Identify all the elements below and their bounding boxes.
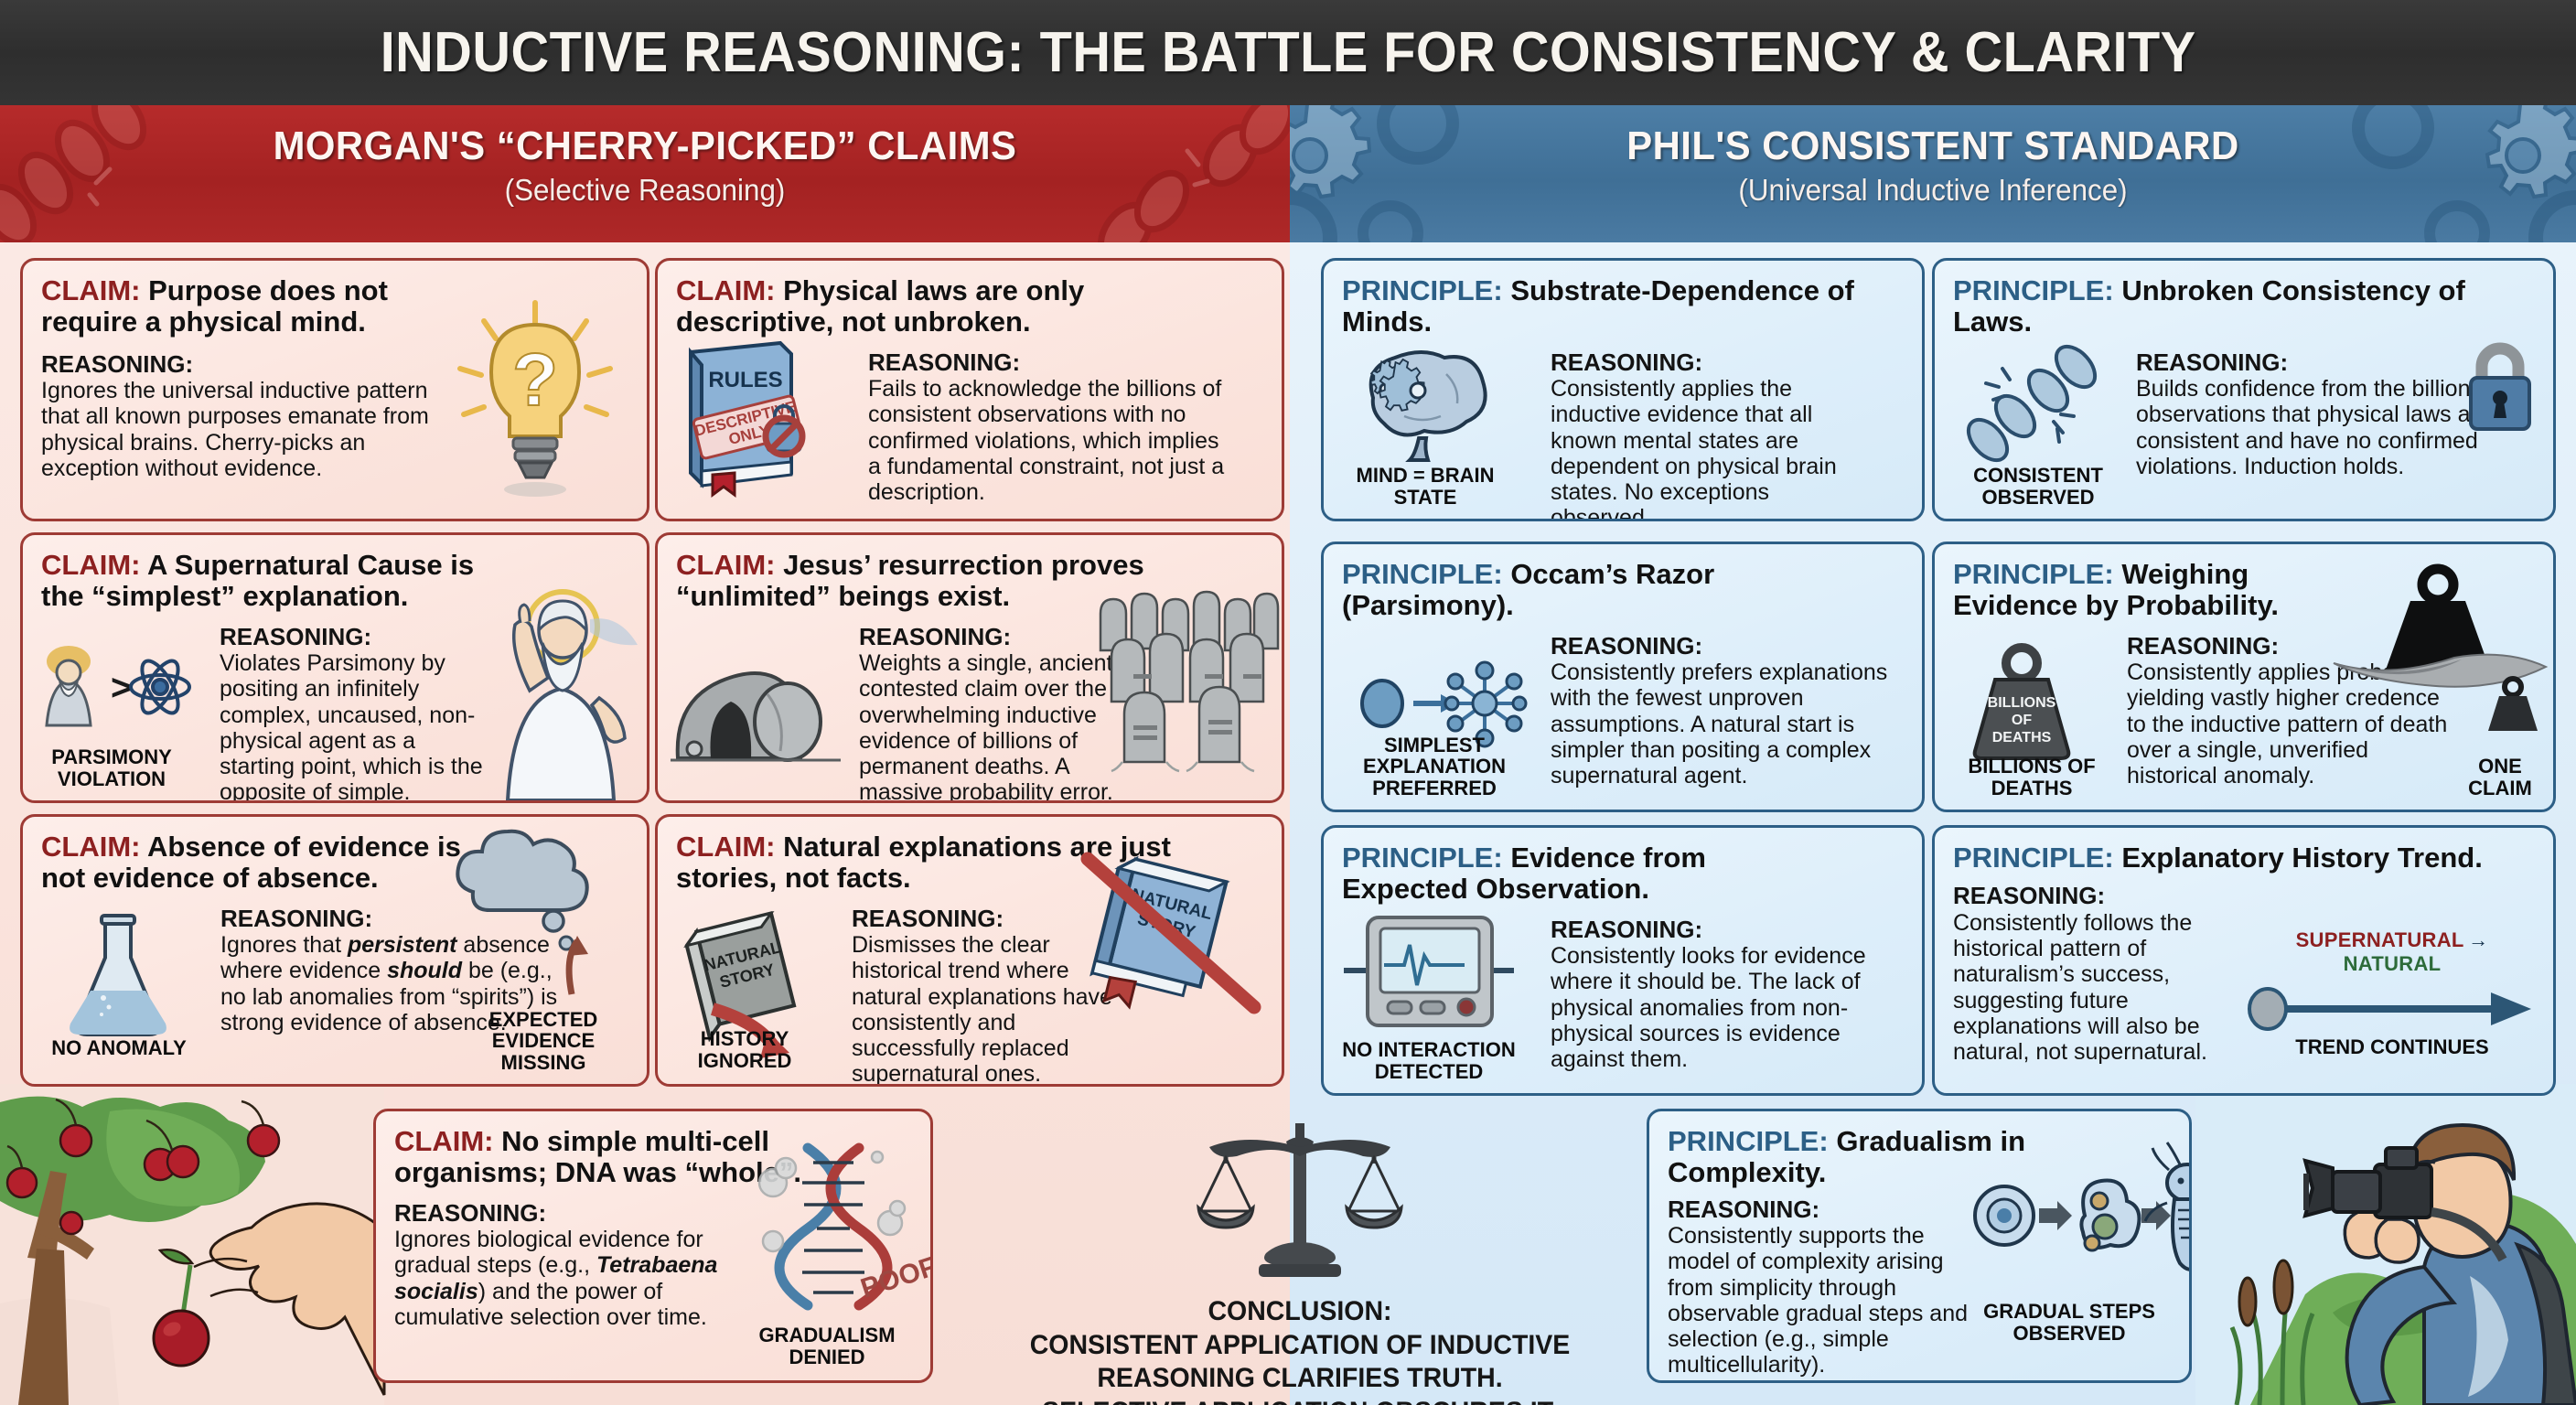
svg-text:DEATHS: DEATHS xyxy=(1992,730,2052,745)
claim-card: CLAIM: No simple multi-cell organisms; D… xyxy=(373,1109,933,1383)
reasoning-label: REASONING: xyxy=(1551,349,1871,376)
trend-to-label: NATURAL xyxy=(2344,952,2442,975)
principle-caption-secondary: ONE CLAIM xyxy=(2453,756,2548,799)
conclusion-line-3: REASONING CLARIFIES TRUTH. xyxy=(965,1362,1635,1396)
principle-reasoning: Builds confidence from the billions of o… xyxy=(2136,376,2507,479)
scale-tipping-weights-icon xyxy=(2330,563,2549,745)
reasoning-label: REASONING: xyxy=(1551,917,1869,943)
svg-text:?: ? xyxy=(512,338,558,422)
photographer-with-camera-illustration xyxy=(2195,1084,2576,1405)
claim-keyword: CLAIM: xyxy=(41,831,140,863)
heavy-weight-icon: BILLIONS OF DEATHS xyxy=(1962,643,2081,758)
hand-picking-cherry-from-tree-illustration xyxy=(0,1084,384,1405)
reasoning-label: REASONING: xyxy=(220,624,485,650)
left-banner-subtitle: (Selective Reasoning) xyxy=(32,173,1258,208)
chain-link-icon xyxy=(1959,349,2109,467)
principle-reasoning: Consistently applies the inductive evide… xyxy=(1551,376,1837,521)
principle-reasoning: Consistently follows the historical patt… xyxy=(1953,910,2207,1065)
right-banner-title: PHIL'S CONSISTENT STANDARD xyxy=(1322,123,2544,169)
principle-caption: MIND = BRAIN STATE xyxy=(1338,465,1512,508)
reasoning-label: REASONING: xyxy=(1953,883,2255,909)
claim-card: CLAIM: Absence of evidence is not eviden… xyxy=(20,814,649,1087)
thought-cloud-arrow-icon xyxy=(433,824,606,998)
claim-caption: HISTORY IGNORED xyxy=(667,1028,822,1071)
principle-caption: CONSISTENT OBSERVED xyxy=(1942,465,2134,508)
right-column-banner: PHIL'S CONSISTENT STANDARD (Universal In… xyxy=(1290,105,2576,242)
claim-reasoning: Violates Parsimony by positing an infini… xyxy=(220,650,483,803)
infographic-root: INDUCTIVE REASONING: THE BATTLE FOR CONS… xyxy=(0,0,2576,1405)
principle-caption: NO INTERACTION DETECTED xyxy=(1327,1039,1530,1082)
svg-text:OF: OF xyxy=(2012,713,2032,728)
trend-labels: SUPERNATURAL → NATURAL xyxy=(2246,928,2538,976)
claim-caption-secondary: EXPECTED EVIDENCE MISSING xyxy=(449,1009,638,1073)
principle-card: PRINCIPLE: Weighing Evidence by Probabil… xyxy=(1932,542,2556,812)
principle-caption: GRADUAL STEPS OBSERVED xyxy=(1955,1301,2184,1344)
claim-reasoning: Fails to acknowledge the billions of con… xyxy=(868,376,1224,505)
principle-keyword: PRINCIPLE: xyxy=(1342,842,1503,874)
principle-reasoning: Consistently prefers explanations with t… xyxy=(1551,660,1887,788)
left-column-banner: MORGAN'S “CHERRY-PICKED” CLAIMS (Selecti… xyxy=(0,105,1290,242)
reasoning-label: REASONING: xyxy=(868,349,1234,376)
claim-caption: NO ANOMALY xyxy=(32,1037,206,1058)
reasoning-label: REASONING: xyxy=(859,624,1124,650)
conclusion-block: CONCLUSION: CONSISTENT APPLICATION OF IN… xyxy=(948,1123,1652,1405)
svg-text:>: > xyxy=(111,668,132,708)
deity-figure-icon xyxy=(451,583,643,800)
page-title: INDUCTIVE REASONING: THE BATTLE FOR CONS… xyxy=(381,20,2196,85)
principle-keyword: PRINCIPLE: xyxy=(1668,1125,1829,1157)
claim-keyword: CLAIM: xyxy=(41,549,140,581)
principle-keyword: PRINCIPLE: xyxy=(1342,274,1503,306)
flask-icon xyxy=(63,912,173,1040)
principle-keyword: PRINCIPLE: xyxy=(1953,558,2114,590)
principle-keyword: PRINCIPLE: xyxy=(1953,842,2114,874)
claim-keyword: CLAIM: xyxy=(41,274,140,306)
rules-book-descriptive-only-icon: RULES DESCRIPTIVE ONLY xyxy=(676,339,850,495)
principle-card: PRINCIPLE: Occam’s Razor (Parsimony). RE… xyxy=(1321,542,1925,812)
principle-headline: Explanatory History Trend. xyxy=(2121,842,2483,874)
principle-card: PRINCIPLE: Unbroken Consistency of Laws.… xyxy=(1932,258,2556,521)
deity-greater-than-atom-icon: > xyxy=(30,641,195,742)
reasoning-label: REASONING: xyxy=(2136,349,2520,376)
principle-card: PRINCIPLE: Gradualism in Complexity. REA… xyxy=(1647,1109,2192,1383)
conclusion-line-2: CONSISTENT APPLICATION OF INDUCTIVE xyxy=(965,1329,1635,1363)
dna-poof-icon: POOF! xyxy=(757,1141,910,1313)
claim-caption: PARSIMONY VIOLATION xyxy=(34,746,189,789)
left-banner-title: MORGAN'S “CHERRY-PICKED” CLAIMS xyxy=(32,123,1258,169)
principle-caption: BILLIONS OF DEATHS xyxy=(1940,756,2123,799)
balance-scales-icon xyxy=(1195,1123,1405,1288)
svg-text:BILLIONS: BILLIONS xyxy=(1988,695,2056,711)
principle-card: PRINCIPLE: Explanatory History Trend. RE… xyxy=(1932,825,2556,1096)
empty-tomb-icon xyxy=(671,654,841,767)
brain-gears-icon xyxy=(1358,347,1497,462)
principle-reasoning: Consistently looks for evidence where it… xyxy=(1551,943,1866,1072)
trend-arrow-icon xyxy=(2246,985,2538,1033)
claim-reasoning: Weights a single, ancient, contested cla… xyxy=(859,650,1119,803)
claim-card: CLAIM: Natural explanations are just sto… xyxy=(655,814,1284,1087)
padlock-icon xyxy=(2463,339,2537,438)
conclusion-line-4: SELECTIVE APPLICATION OBSCURES IT. xyxy=(965,1396,1635,1405)
principle-keyword: PRINCIPLE: xyxy=(1953,274,2114,306)
principle-caption: TREND CONTINUES xyxy=(2246,1036,2538,1057)
claim-reasoning: Dismisses the clear historical trend whe… xyxy=(852,932,1112,1087)
claim-card: CLAIM: A Supernatural Cause is the “simp… xyxy=(20,532,649,803)
claim-card: CLAIM: Purpose does not require a physic… xyxy=(20,258,649,521)
cell-to-organism-icon xyxy=(1971,1159,2173,1272)
reasoning-label: REASONING: xyxy=(1551,633,1898,660)
book-rules-label: RULES xyxy=(708,368,782,392)
principle-caption: SIMPLEST EXPLANATION PREFERRED xyxy=(1331,735,1538,799)
reasoning-label: REASONING: xyxy=(1668,1196,1970,1223)
claim-keyword: CLAIM: xyxy=(394,1125,493,1157)
natural-story-book-crossed-out-icon: NATURAL STORY xyxy=(1075,855,1267,1020)
claim-caption: GRADUALISM DENIED xyxy=(740,1325,914,1367)
principle-reasoning: Consistently supports the model of compl… xyxy=(1668,1223,1968,1378)
lightbulb-question-icon: ? xyxy=(444,297,627,499)
principle-card: PRINCIPLE: Evidence from Expected Observ… xyxy=(1321,825,1925,1096)
principle-keyword: PRINCIPLE: xyxy=(1342,558,1503,590)
reasoning-label: REASONING: xyxy=(41,351,444,378)
claim-keyword: CLAIM: xyxy=(676,274,775,306)
claim-card: CLAIM: Physical laws are only descriptiv… xyxy=(655,258,1284,521)
principle-card: PRINCIPLE: Substrate-Dependence of Minds… xyxy=(1321,258,1925,521)
heart-monitor-flatline-icon xyxy=(1344,914,1514,1029)
trend-from-label: SUPERNATURAL xyxy=(2296,928,2464,951)
claim-keyword: CLAIM: xyxy=(676,831,775,863)
reasoning-label: REASONING: xyxy=(394,1200,749,1227)
claim-reasoning: Ignores biological evidence for gradual … xyxy=(394,1227,717,1330)
trend-arrow-glyph: → xyxy=(2468,928,2488,951)
title-bar: INDUCTIVE REASONING: THE BATTLE FOR CONS… xyxy=(0,0,2576,105)
claim-keyword: CLAIM: xyxy=(676,549,775,581)
gravestones-icon xyxy=(1097,586,1276,775)
claim-card: CLAIM: Jesus’ resurrection proves “unlim… xyxy=(655,532,1284,803)
claim-reasoning: Ignores the universal inductive pattern … xyxy=(41,378,429,481)
poof-label: POOF! xyxy=(857,1249,933,1304)
conclusion-line-1: CONCLUSION: xyxy=(965,1295,1635,1329)
right-banner-subtitle: (Universal Inductive Inference) xyxy=(1322,173,2544,208)
